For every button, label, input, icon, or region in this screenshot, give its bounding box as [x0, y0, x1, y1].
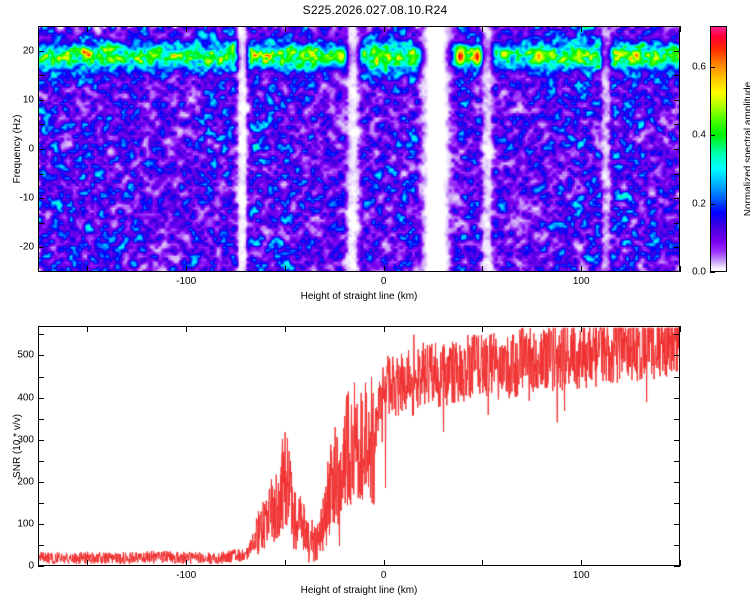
spectrogram-ytick: [674, 124, 680, 125]
snr-xtick: [581, 560, 582, 566]
snr-panel[interactable]: [38, 326, 680, 566]
snr-xaxis-label: Height of straight line (km): [301, 585, 418, 596]
snr-xtick-label: 0: [381, 570, 387, 581]
snr-xtick: [186, 326, 187, 332]
spectrogram-ytick: [674, 223, 680, 224]
spectrogram-ytick: [38, 174, 44, 175]
snr-ytick: [674, 419, 680, 420]
snr-ytick: [38, 545, 44, 546]
colorbar-tick-label: 0.0: [674, 267, 706, 278]
spectrogram-yaxis-label: Frequency (Hz): [12, 115, 23, 184]
snr-xtick: [87, 560, 88, 566]
spectrogram-xtick: [186, 266, 187, 272]
snr-xtick: [680, 326, 681, 332]
spectrogram-ytick-label: 10: [2, 94, 34, 105]
spectrogram-ytick-label: -10: [2, 193, 34, 204]
snr-ytick: [38, 419, 44, 420]
snr-xtick: [482, 326, 483, 332]
figure-root: S225.2026.027.08.10.R24 -1000100-20-1001…: [0, 0, 750, 600]
spectrogram-xtick: [285, 266, 286, 272]
snr-xtick: [186, 560, 187, 566]
spectrogram-plot-area: [39, 27, 679, 271]
spectrogram-xtick: [186, 26, 187, 32]
snr-ytick: [674, 545, 680, 546]
snr-trace: [39, 327, 679, 565]
spectrogram-image: [39, 27, 679, 271]
colorbar-tick: [710, 272, 715, 273]
spectrogram-ytick: [38, 75, 44, 76]
snr-xtick: [285, 560, 286, 566]
colorbar[interactable]: [710, 26, 727, 272]
colorbar-label: Normalized spectral amplitude: [743, 82, 750, 217]
spectrogram-ytick: [674, 26, 680, 27]
spectrogram-xtick: [482, 266, 483, 272]
spectrogram-ytick: [38, 100, 44, 101]
snr-ytick: [674, 482, 680, 483]
snr-ytick: [38, 377, 44, 378]
spectrogram-xtick: [87, 26, 88, 32]
spectrogram-xtick-label: 100: [573, 276, 590, 287]
spectrogram-xtick-label: 0: [381, 276, 387, 287]
spectrogram-ytick: [674, 174, 680, 175]
colorbar-tick: [710, 67, 715, 68]
snr-ytick: [674, 524, 680, 525]
colorbar-tick-label: 0.4: [674, 130, 706, 141]
figure-title: S225.2026.027.08.10.R24: [0, 3, 750, 17]
snr-xtick: [384, 560, 385, 566]
spectrogram-xtick: [384, 266, 385, 272]
snr-xtick: [285, 326, 286, 332]
spectrogram-xtick: [384, 26, 385, 32]
snr-ytick: [38, 503, 44, 504]
snr-ytick: [674, 355, 680, 356]
spectrogram-ytick: [674, 51, 680, 52]
colorbar-tick: [710, 135, 715, 136]
snr-ytick: [674, 334, 680, 335]
snr-yaxis-label: SNR (10 * v/v): [12, 414, 23, 478]
snr-ytick: [38, 461, 44, 462]
spectrogram-panel[interactable]: [38, 26, 680, 272]
spectrogram-ytick-label: 20: [2, 45, 34, 56]
spectrogram-ytick: [38, 198, 44, 199]
snr-ytick: [38, 524, 44, 525]
snr-ytick: [38, 440, 44, 441]
snr-xtick: [680, 560, 681, 566]
spectrogram-ytick: [674, 100, 680, 101]
spectrogram-xtick: [581, 26, 582, 32]
spectrogram-xtick: [87, 266, 88, 272]
spectrogram-ytick: [674, 149, 680, 150]
snr-ytick: [674, 440, 680, 441]
snr-ytick-label: 100: [2, 518, 34, 529]
snr-xtick-label: 100: [573, 570, 590, 581]
spectrogram-ytick-label: -20: [2, 242, 34, 253]
colorbar-tick-label: 0.6: [674, 62, 706, 73]
snr-plot-area: [39, 327, 679, 565]
snr-xtick: [87, 326, 88, 332]
snr-ytick: [38, 334, 44, 335]
spectrogram-ytick: [38, 247, 44, 248]
snr-ytick: [674, 377, 680, 378]
spectrogram-ytick: [38, 149, 44, 150]
colorbar-tick-label: 0.2: [674, 198, 706, 209]
snr-ytick-label: 400: [2, 392, 34, 403]
snr-ytick: [674, 566, 680, 567]
snr-ytick-label: 500: [2, 350, 34, 361]
spectrogram-ytick: [674, 75, 680, 76]
snr-xtick-label: -100: [176, 570, 196, 581]
snr-xtick: [384, 326, 385, 332]
snr-xtick: [581, 326, 582, 332]
snr-ytick: [38, 482, 44, 483]
colorbar-gradient: [711, 27, 726, 271]
spectrogram-ytick: [38, 26, 44, 27]
spectrogram-ytick: [38, 124, 44, 125]
snr-xtick: [482, 560, 483, 566]
snr-ytick: [674, 503, 680, 504]
spectrogram-xtick: [581, 266, 582, 272]
spectrogram-xtick: [285, 26, 286, 32]
spectrogram-ytick: [38, 51, 44, 52]
spectrogram-xtick: [482, 26, 483, 32]
snr-ytick-label: 0: [2, 561, 34, 572]
snr-ytick: [38, 355, 44, 356]
spectrogram-xtick: [680, 26, 681, 32]
colorbar-tick: [710, 204, 715, 205]
snr-ytick: [674, 461, 680, 462]
snr-ytick: [38, 566, 44, 567]
spectrogram-xtick-label: -100: [176, 276, 196, 287]
spectrogram-ytick: [38, 223, 44, 224]
spectrogram-xaxis-label: Height of straight line (km): [301, 291, 418, 302]
snr-ytick: [674, 398, 680, 399]
snr-ytick: [38, 398, 44, 399]
spectrogram-ytick: [674, 247, 680, 248]
